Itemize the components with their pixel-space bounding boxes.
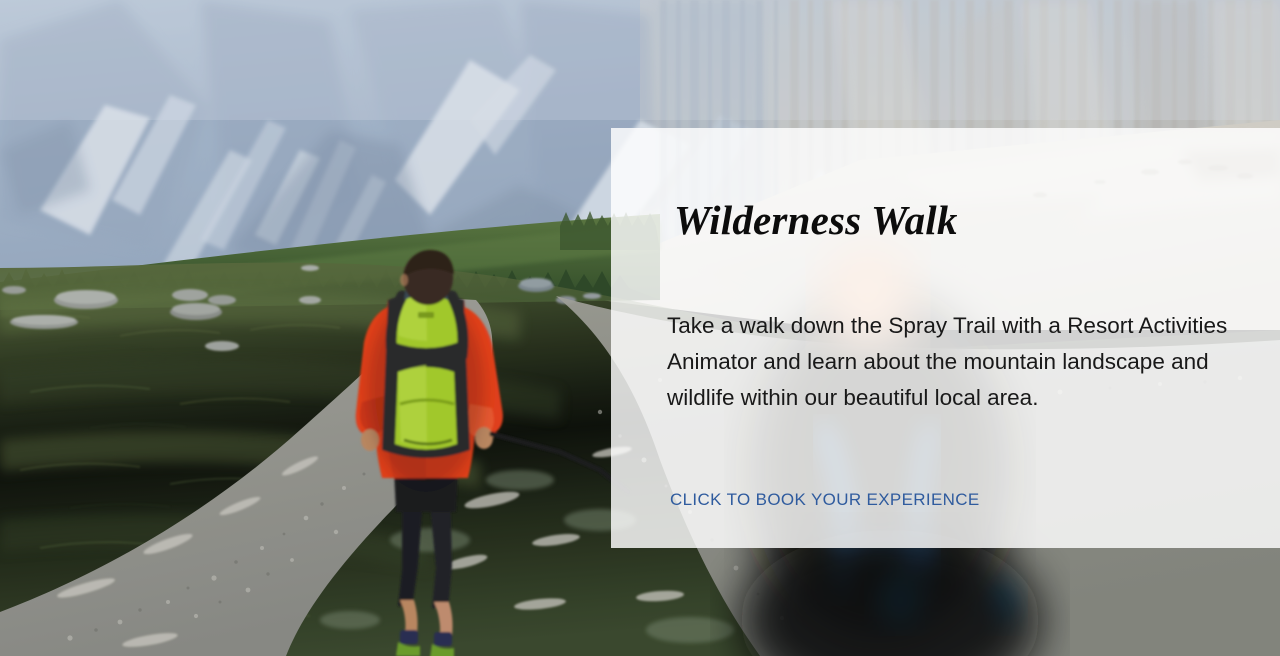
promo-card-description: Take a walk down the Spray Trail with a … [667, 308, 1233, 416]
book-experience-link[interactable]: CLICK TO BOOK YOUR EXPERIENCE [670, 491, 980, 508]
promo-card-title: Wilderness Walk [674, 200, 958, 241]
promo-card: Wilderness Walk Take a walk down the Spr… [611, 128, 1280, 548]
hero-banner: Wilderness Walk Take a walk down the Spr… [0, 0, 1280, 656]
